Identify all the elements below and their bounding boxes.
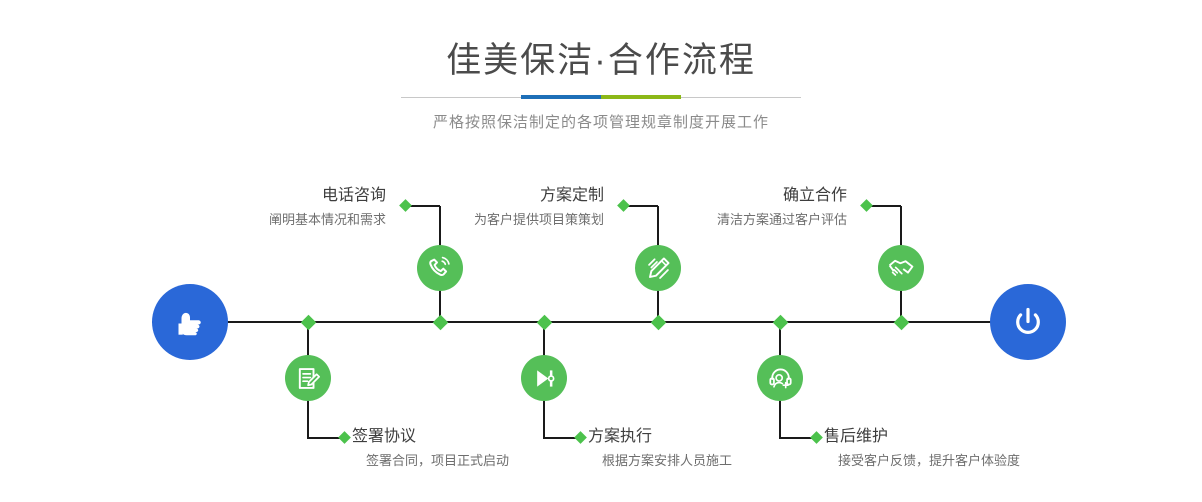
step-title-3: 方案定制 xyxy=(474,185,604,207)
play-execute-icon xyxy=(531,365,558,392)
document-edit-icon xyxy=(295,365,322,392)
step-icon-4 xyxy=(521,355,567,401)
label-diamond-2 xyxy=(338,431,351,444)
step-title-5: 确立合作 xyxy=(717,185,847,207)
axis-diamond-4 xyxy=(537,315,553,331)
step-icon-5 xyxy=(878,245,924,291)
axis-diamond-3 xyxy=(651,315,667,331)
step-label-3: 方案定制 为客户提供项目策策划 xyxy=(474,185,604,230)
pencil-design-icon xyxy=(645,255,672,282)
step-label-2: 签署协议 签署合同，项目正式启动 xyxy=(352,426,509,471)
label-diamond-4 xyxy=(574,431,587,444)
step-desc-5: 清洁方案通过客户评估 xyxy=(717,210,847,230)
axis-diamond-5 xyxy=(894,315,910,331)
step-title-2: 签署协议 xyxy=(352,426,509,448)
power-icon xyxy=(1007,301,1049,343)
timeline-end-node xyxy=(990,284,1066,360)
timeline-start-node xyxy=(152,284,228,360)
timeline-axis xyxy=(152,321,1050,323)
step-desc-2: 签署合同，项目正式启动 xyxy=(352,451,509,471)
headset-support-icon xyxy=(767,365,794,392)
label-diamond-3 xyxy=(617,199,630,212)
axis-diamond-6 xyxy=(773,315,789,331)
step-title-4: 方案执行 xyxy=(588,426,732,448)
handshake-icon xyxy=(887,254,915,282)
label-diamond-5 xyxy=(860,199,873,212)
process-timeline: 电话咨询 阐明基本情况和需求 签署协议 签署合同，项目正式启动 方案定制 为客户… xyxy=(0,0,1202,502)
step-icon-2 xyxy=(285,355,331,401)
step-label-5: 确立合作 清洁方案通过客户评估 xyxy=(717,185,847,230)
label-diamond-6 xyxy=(810,431,823,444)
step-icon-6 xyxy=(757,355,803,401)
step-desc-3: 为客户提供项目策策划 xyxy=(474,210,604,230)
step-desc-1: 阐明基本情况和需求 xyxy=(269,210,386,230)
axis-diamond-1 xyxy=(433,315,449,331)
step-desc-4: 根据方案安排人员施工 xyxy=(588,451,732,471)
pointing-hand-icon xyxy=(169,301,211,343)
step-title-6: 售后维护 xyxy=(824,426,1020,448)
label-diamond-1 xyxy=(399,199,412,212)
step-icon-1 xyxy=(417,245,463,291)
step-label-1: 电话咨询 阐明基本情况和需求 xyxy=(269,185,386,230)
axis-diamond-2 xyxy=(301,315,317,331)
step-icon-3 xyxy=(635,245,681,291)
step-title-1: 电话咨询 xyxy=(269,185,386,207)
step-desc-6: 接受客户反馈，提升客户体验度 xyxy=(824,451,1020,471)
step-label-4: 方案执行 根据方案安排人员施工 xyxy=(588,426,732,471)
step-label-6: 售后维护 接受客户反馈，提升客户体验度 xyxy=(824,426,1020,471)
phone-call-icon xyxy=(426,254,454,282)
